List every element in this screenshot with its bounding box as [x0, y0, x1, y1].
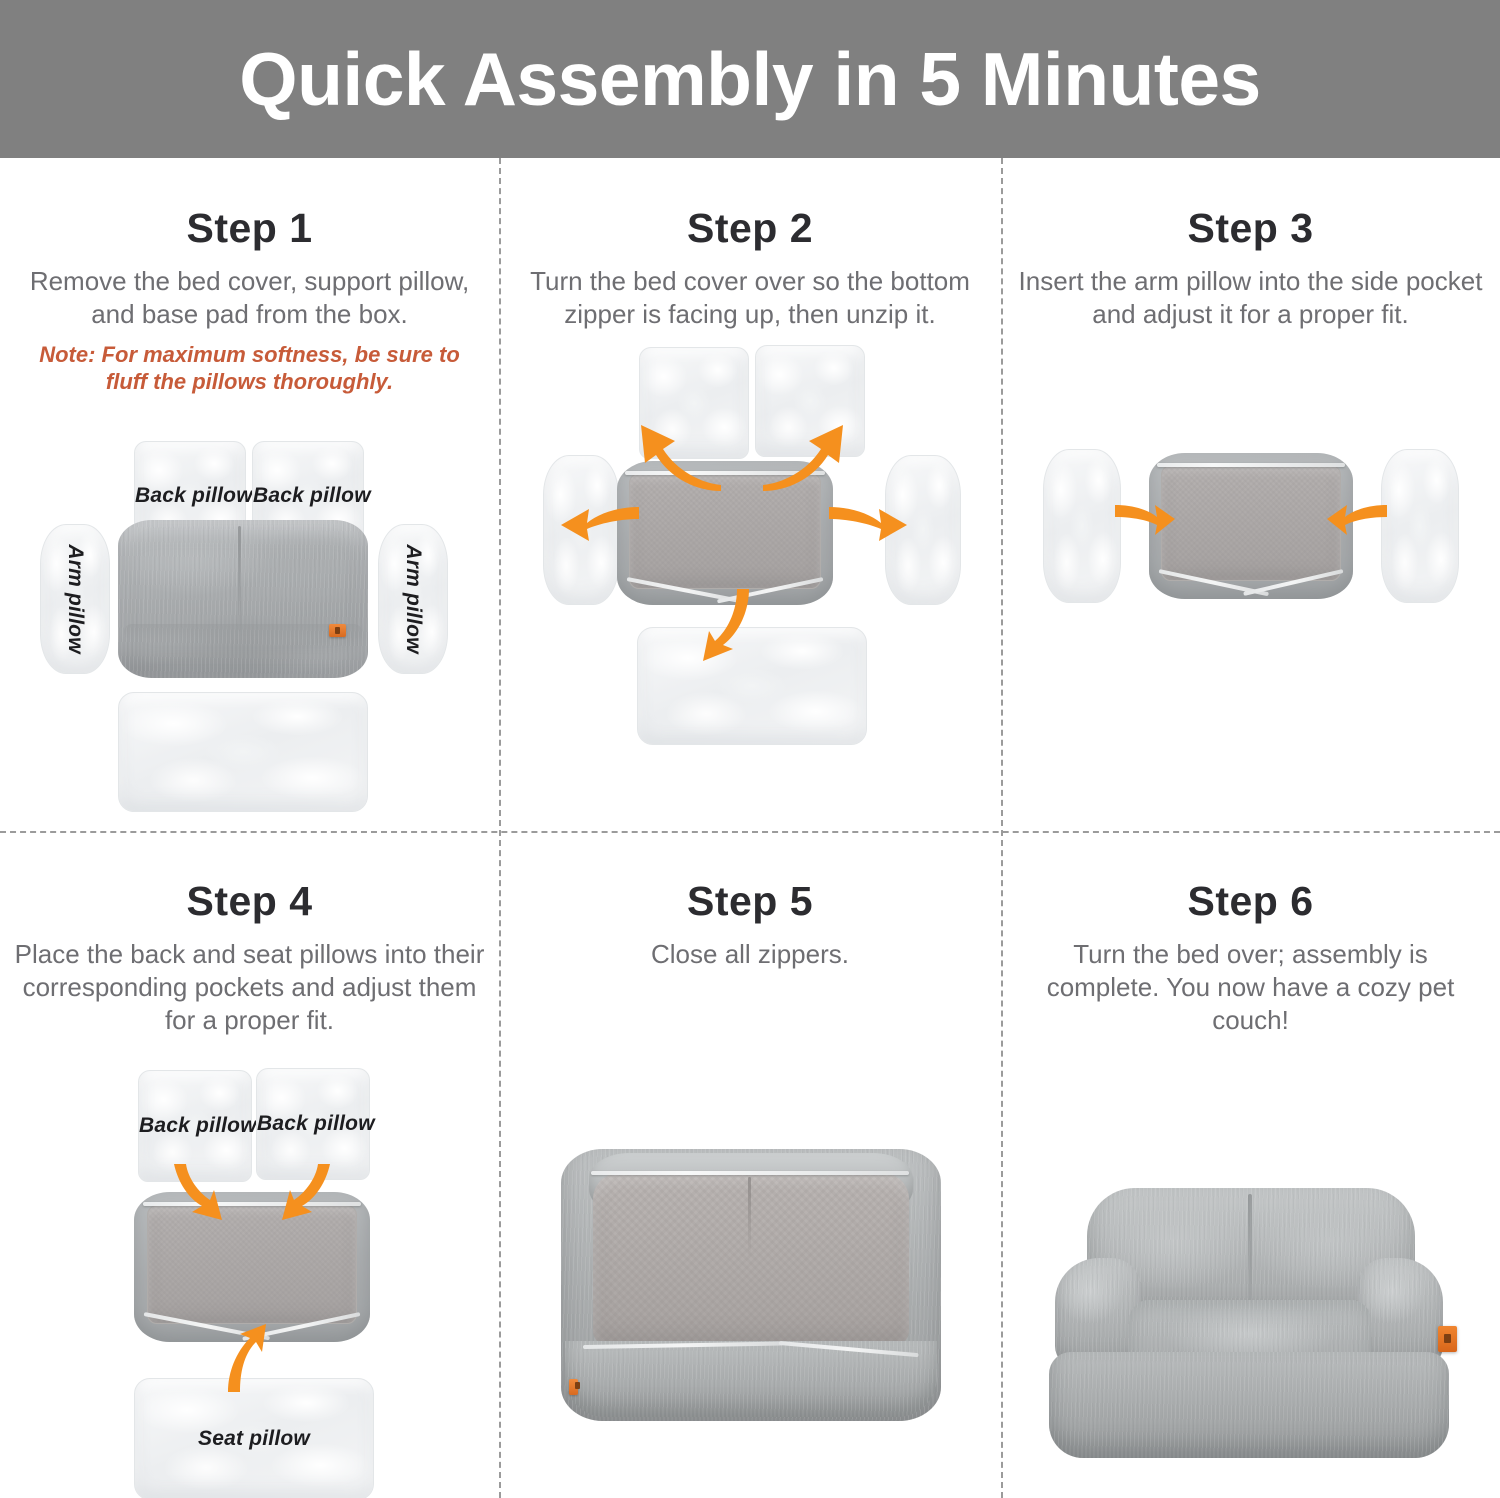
arrow-down-icon [695, 587, 761, 667]
back-pillow-right-label: Back pillow [253, 484, 363, 508]
arrow-up-icon [216, 1322, 274, 1394]
arm-pillow-right-label: Arm pillow [401, 519, 425, 679]
panel-center-crease [748, 1177, 751, 1259]
assembly-instructions-page: Quick Assembly in 5 Minutes Step 1 Remov… [0, 0, 1500, 1498]
cover-center-seam [238, 526, 241, 631]
bed-front-panel [593, 1173, 909, 1345]
back-pillow-right-label: Back pillow [257, 1112, 369, 1136]
arm-pillow-left [1043, 449, 1121, 603]
arm-pillow-left: Arm pillow [40, 524, 110, 674]
seat-pillow: Seat pillow [134, 1378, 374, 1498]
step-2-illustration [499, 331, 1001, 831]
cover-fold-shadow [124, 624, 362, 640]
step-1-cell: Step 1 Remove the bed cover, support pil… [0, 158, 499, 831]
arrow-down-right-icon [272, 1162, 336, 1224]
step-4-description: Place the back and seat pillows into the… [15, 938, 485, 1036]
bed-cover-unzipped [1149, 453, 1353, 599]
step-4-title: Step 4 [186, 879, 312, 924]
arrow-up-left-icon [637, 423, 727, 493]
step-5-cell: Step 5 Close all zippers. [499, 831, 1001, 1498]
page-title: Quick Assembly in 5 Minutes [239, 42, 1261, 117]
step-6-cell: Step 6 Turn the bed over; assembly is co… [1001, 831, 1500, 1498]
arrow-up-right-icon [757, 423, 847, 493]
back-pillow-left-label: Back pillow [139, 1114, 251, 1138]
step-3-illustration [1001, 331, 1500, 831]
step-6-description: Turn the bed over; assembly is complete.… [1016, 938, 1486, 1036]
backrest-center-crease [1248, 1194, 1252, 1312]
step-3-description: Insert the arm pillow into the side pock… [1016, 265, 1486, 331]
step-6-illustration [1001, 1036, 1500, 1498]
brand-tag-icon [1438, 1326, 1457, 1352]
step-5-illustration [499, 971, 1001, 1498]
zipper-top-closed [591, 1171, 909, 1175]
step-5-title: Step 5 [687, 879, 813, 924]
base-pad [118, 692, 368, 812]
step-2-title: Step 2 [687, 206, 813, 251]
step-1-title: Step 1 [186, 206, 312, 251]
arm-pillow-right [1381, 449, 1459, 603]
step-1-illustration: Back pillow Back pillow Arm pillow Arm p… [0, 396, 499, 831]
step-4-illustration: Back pillow Back pillow Seat pillow [0, 1036, 499, 1498]
step-4-cell: Step 4 Place the back and seat pillows i… [0, 831, 499, 1498]
assembled-pet-couch [1043, 1184, 1455, 1484]
bed-cover-folded [118, 520, 368, 678]
brand-tag-icon [569, 1379, 578, 1395]
arrow-down-left-icon [168, 1162, 232, 1224]
cover-interior-pocket [1161, 465, 1341, 581]
header-banner: Quick Assembly in 5 Minutes [0, 0, 1500, 158]
arrow-right-icon [825, 501, 909, 547]
couch-base [1049, 1352, 1449, 1458]
arrow-left-into-cover-icon [1325, 497, 1391, 541]
arrow-left-icon [559, 501, 643, 547]
step-2-cell: Step 2 Turn the bed cover over so the bo… [499, 158, 1001, 831]
assembled-bed-closed [561, 1149, 941, 1421]
arm-pillow-left-label: Arm pillow [63, 519, 87, 679]
step-6-title: Step 6 [1187, 879, 1313, 924]
steps-grid: Step 1 Remove the bed cover, support pil… [0, 158, 1500, 1498]
brand-tag-icon [329, 624, 346, 637]
step-1-note: Note: For maximum softness, be sure to f… [35, 341, 465, 396]
step-3-cell: Step 3 Insert the arm pillow into the si… [1001, 158, 1500, 831]
step-3-title: Step 3 [1187, 206, 1313, 251]
zipper-top [1157, 463, 1345, 467]
step-2-description: Turn the bed cover over so the bottom zi… [515, 265, 985, 331]
arm-pillow-right: Arm pillow [378, 524, 448, 674]
step-1-description: Remove the bed cover, support pillow, an… [15, 265, 485, 331]
seat-pillow-label: Seat pillow [135, 1427, 373, 1451]
step-5-description: Close all zippers. [651, 938, 849, 971]
back-pillow-left-label: Back pillow [135, 484, 245, 508]
arrow-right-into-cover-icon [1111, 497, 1177, 541]
plush-texture-base [1049, 1352, 1449, 1458]
plush-texture [118, 520, 368, 678]
